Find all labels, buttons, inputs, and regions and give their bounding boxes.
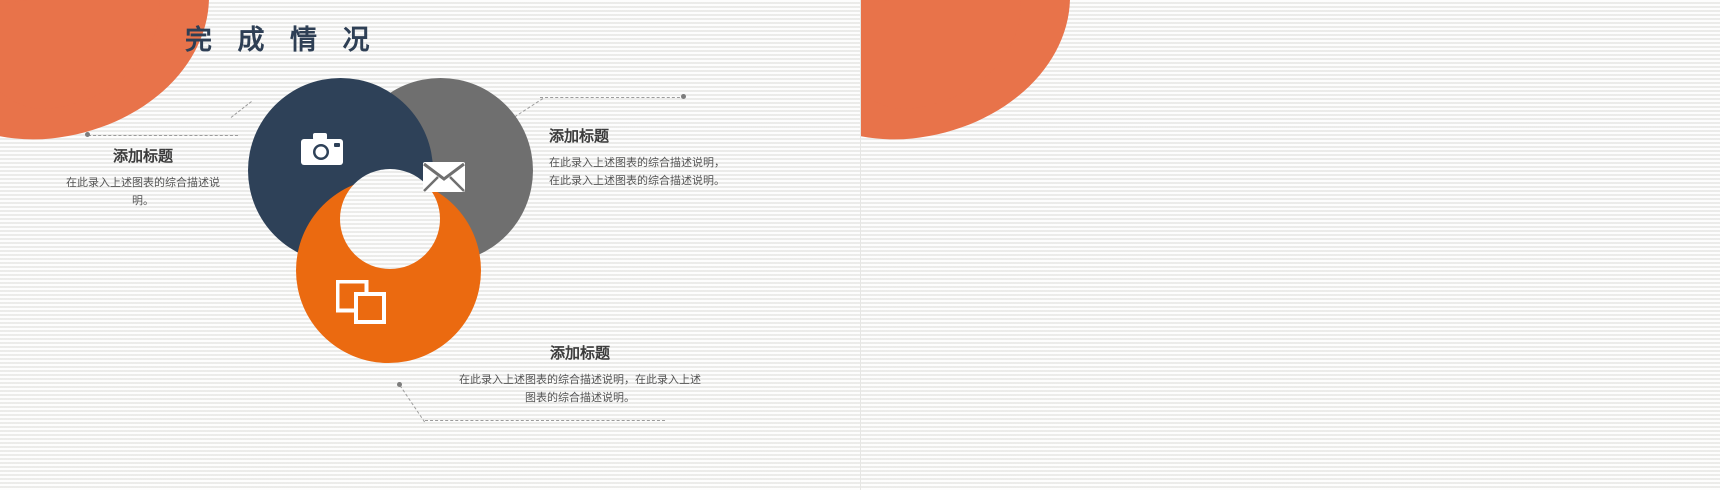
slide-completion-status: 完 成 情 况 xyxy=(0,0,860,490)
leader-dot-left xyxy=(85,132,90,137)
leader-line-right xyxy=(540,97,685,98)
photos-icon xyxy=(336,280,386,329)
leader-line-bottom xyxy=(425,420,665,421)
leader-line-left xyxy=(88,135,238,136)
leader-dot-right xyxy=(681,94,686,99)
slide-deck: 完 成 情 况 xyxy=(0,0,1720,490)
slide-key-difficulties: 重 点 难 点 添加标题 在此录入上述图表的综合描述说明。 添加标题 在此录入上… xyxy=(860,0,1720,490)
callout-left-title: 添加标题 xyxy=(62,145,224,166)
camera-icon xyxy=(301,133,343,172)
callout-right-body: 在此录入上述图表的综合描述说明，在此录入上述图表的综合描述说明。 xyxy=(549,154,729,190)
callout-right: 添加标题 在此录入上述图表的综合描述说明，在此录入上述图表的综合描述说明。 xyxy=(549,125,729,190)
decorative-blob xyxy=(860,0,1084,158)
callout-bottom: 添加标题 在此录入上述图表的综合描述说明，在此录入上述图表的综合描述说明。 xyxy=(455,342,705,407)
callout-left-body: 在此录入上述图表的综合描述说明。 xyxy=(62,174,224,210)
callout-right-title: 添加标题 xyxy=(549,125,729,146)
mail-icon xyxy=(423,162,465,197)
callout-bottom-title: 添加标题 xyxy=(455,342,705,363)
page-title: 完 成 情 况 xyxy=(185,18,379,57)
callout-left: 添加标题 在此录入上述图表的综合描述说明。 xyxy=(62,145,224,210)
callout-bottom-body: 在此录入上述图表的综合描述说明，在此录入上述图表的综合描述说明。 xyxy=(455,371,705,407)
